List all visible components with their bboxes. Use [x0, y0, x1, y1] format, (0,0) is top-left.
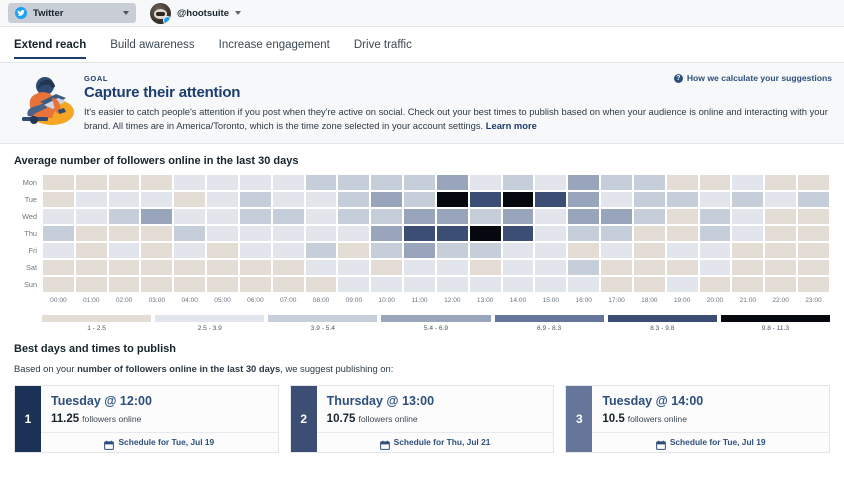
heatmap-cell[interactable] [108, 276, 141, 293]
legend-item: 9.8 - 11.3 [721, 315, 830, 332]
heatmap-cell[interactable] [699, 259, 732, 276]
heatmap-cell[interactable] [633, 208, 666, 225]
heatmap-day-label: Fri [14, 242, 42, 259]
heatmap-cell[interactable] [567, 242, 600, 259]
heatmap-hour-label: 14:00 [502, 297, 535, 304]
heatmap-cell[interactable] [140, 191, 173, 208]
heatmap-cell[interactable] [206, 191, 239, 208]
heatmap-cell[interactable] [206, 242, 239, 259]
heatmap-cell[interactable] [567, 208, 600, 225]
tab-extend-reach[interactable]: Extend reach [14, 30, 86, 59]
heatmap-cell[interactable] [764, 191, 797, 208]
heatmap-cell[interactable] [699, 191, 732, 208]
heatmap-cell[interactable] [140, 225, 173, 242]
heatmap-cell[interactable] [403, 191, 436, 208]
heatmap-cell[interactable] [731, 242, 764, 259]
heatmap-cell[interactable] [502, 259, 535, 276]
hero-description-text: It's easier to catch people's attention … [84, 106, 828, 131]
heatmap-cell[interactable] [633, 259, 666, 276]
suggestion-cards: 1Tuesday @ 12:0011.25followers onlineSch… [14, 385, 830, 453]
heatmap-hour-label: 21:00 [731, 297, 764, 304]
schedule-button[interactable]: Schedule for Thu, Jul 21 [317, 432, 554, 452]
heatmap-hour-label: 18:00 [633, 297, 666, 304]
legend-label: 8.3 - 9.8 [608, 325, 717, 332]
heatmap-cell[interactable] [600, 208, 633, 225]
heatmap-hour-label: 08:00 [305, 297, 338, 304]
heatmap-cell[interactable] [567, 259, 600, 276]
legend-item: 5.4 - 6.9 [381, 315, 490, 332]
heatmap-cell[interactable] [337, 208, 370, 225]
heatmap-cell[interactable] [403, 208, 436, 225]
subtitle-bold: number of followers online in the last 3… [77, 363, 280, 374]
legend-item: 6.9 - 8.3 [495, 315, 604, 332]
heatmap-cell[interactable] [436, 174, 469, 191]
legend-label: 1 - 2.5 [42, 325, 151, 332]
heatmap-title: Average number of followers online in th… [14, 155, 830, 167]
heatmap-cell[interactable] [239, 174, 272, 191]
heatmap-cell[interactable] [502, 225, 535, 242]
card-rank-badge: 3 [566, 386, 592, 452]
heatmap-day-label: Tue [14, 191, 42, 208]
heatmap-row [42, 259, 830, 276]
heatmap-section: Average number of followers online in th… [0, 155, 844, 332]
learn-more-link[interactable]: Learn more [486, 120, 537, 131]
heatmap-cell[interactable] [731, 276, 764, 293]
heatmap-cell[interactable] [337, 225, 370, 242]
best-times-title: Best days and times to publish [14, 343, 830, 355]
heatmap-cell[interactable] [75, 259, 108, 276]
heatmap-cell[interactable] [567, 225, 600, 242]
heatmap-row [42, 276, 830, 293]
card-rank-badge: 2 [291, 386, 317, 452]
heatmap-cell[interactable] [305, 208, 338, 225]
heatmap-cell[interactable] [42, 259, 75, 276]
heatmap-cell[interactable] [75, 225, 108, 242]
heatmap-cell[interactable] [239, 208, 272, 225]
heatmap-cell[interactable] [272, 174, 305, 191]
schedule-button[interactable]: Schedule for Tue, Jul 19 [592, 432, 829, 452]
heatmap-cell[interactable] [699, 225, 732, 242]
hero-description: It's easier to catch people's attention … [84, 105, 830, 132]
heatmap-cell[interactable] [108, 242, 141, 259]
heatmap-cell[interactable] [534, 242, 567, 259]
heatmap-hour-label: 15:00 [534, 297, 567, 304]
heatmap-cell[interactable] [600, 191, 633, 208]
heatmap-cell[interactable] [337, 242, 370, 259]
schedule-label: Schedule for Tue, Jul 19 [670, 437, 766, 447]
heatmap-hour-label: 02:00 [108, 297, 141, 304]
card-time: Tuesday @ 14:00 [602, 394, 819, 408]
heatmap-cell[interactable] [633, 225, 666, 242]
heatmap-cell[interactable] [633, 276, 666, 293]
heatmap-cell[interactable] [797, 174, 830, 191]
network-label: Twitter [33, 8, 117, 19]
heatmap-hour-label: 04:00 [173, 297, 206, 304]
tab-drive-traffic[interactable]: Drive traffic [354, 30, 412, 59]
heatmap-cell[interactable] [370, 242, 403, 259]
heatmap-cell[interactable] [403, 276, 436, 293]
heatmap-cell[interactable] [436, 242, 469, 259]
heatmap-cell[interactable] [731, 174, 764, 191]
heatmap-cell[interactable] [436, 191, 469, 208]
heatmap-cell[interactable] [108, 208, 141, 225]
heatmap-cell[interactable] [173, 225, 206, 242]
best-times-section: Best days and times to publish Based on … [0, 343, 844, 453]
heatmap-cell[interactable] [108, 174, 141, 191]
heatmap-cell[interactable] [272, 191, 305, 208]
heatmap-cell[interactable] [140, 259, 173, 276]
question-mark-icon: ? [674, 74, 683, 83]
profile-selector[interactable]: @hootsuite [150, 3, 241, 24]
calendar-icon [656, 437, 666, 447]
legend-swatch [42, 315, 151, 322]
heatmap-cell[interactable] [469, 208, 502, 225]
heatmap-row [42, 174, 830, 191]
heatmap-cell[interactable] [206, 276, 239, 293]
heatmap-cell[interactable] [699, 208, 732, 225]
heatmap-cell[interactable] [370, 225, 403, 242]
heatmap-cell[interactable] [206, 225, 239, 242]
profile-handle: @hootsuite [177, 8, 229, 19]
subtitle-post: , we suggest publishing on: [280, 363, 393, 374]
heatmap-cell[interactable] [337, 191, 370, 208]
heatmap-cell[interactable] [108, 225, 141, 242]
heatmap-cell[interactable] [666, 242, 699, 259]
avatar [150, 3, 171, 24]
heatmap-cell[interactable] [173, 208, 206, 225]
card-time: Tuesday @ 12:00 [51, 394, 268, 408]
heatmap-cell[interactable] [633, 174, 666, 191]
heatmap-cell[interactable] [502, 276, 535, 293]
chevron-down-icon[interactable] [123, 11, 129, 15]
heatmap-cell[interactable] [42, 191, 75, 208]
heatmap-cell[interactable] [206, 174, 239, 191]
heatmap-day-label: Thu [14, 225, 42, 242]
heatmap-cell[interactable] [469, 242, 502, 259]
subtitle-pre: Based on your [14, 363, 77, 374]
person-with-laptop-illustration [14, 72, 82, 128]
heatmap-cell[interactable] [239, 191, 272, 208]
heatmap-cell[interactable] [731, 191, 764, 208]
heatmap-hour-label: 22:00 [764, 297, 797, 304]
suggestion-card: 2Thursday @ 13:0010.75followers onlineSc… [290, 385, 555, 453]
heatmap-cell[interactable] [534, 174, 567, 191]
heatmap-cell[interactable] [633, 242, 666, 259]
heatmap-cell[interactable] [305, 174, 338, 191]
heatmap-cell[interactable] [305, 259, 338, 276]
schedule-label: Schedule for Thu, Jul 21 [394, 437, 491, 447]
legend-swatch [155, 315, 264, 322]
heatmap-cell[interactable] [75, 174, 108, 191]
heatmap-cell[interactable] [502, 174, 535, 191]
heatmap-cell[interactable] [534, 225, 567, 242]
heatmap-cell[interactable] [699, 174, 732, 191]
how-we-calculate-label: How we calculate your suggestions [687, 73, 832, 83]
heatmap-cell[interactable] [305, 191, 338, 208]
heatmap-cell[interactable] [666, 276, 699, 293]
legend-item: 1 - 2.5 [42, 315, 151, 332]
tab-build-awareness[interactable]: Build awareness [110, 30, 194, 59]
heatmap-hour-label: 01:00 [75, 297, 108, 304]
legend-item: 8.3 - 9.8 [608, 315, 717, 332]
legend-label: 5.4 - 6.9 [381, 325, 490, 332]
heatmap-hour-label: 17:00 [600, 297, 633, 304]
legend-label: 3.9 - 5.4 [268, 325, 377, 332]
heatmap-cell[interactable] [75, 276, 108, 293]
heatmap-day-labels: MonTueWedThuFriSatSun [14, 174, 42, 293]
heatmap-cell[interactable] [272, 242, 305, 259]
heatmap-cell[interactable] [403, 225, 436, 242]
heatmap-cell[interactable] [370, 208, 403, 225]
heatmap-hour-label: 16:00 [567, 297, 600, 304]
heatmap-cell[interactable] [75, 242, 108, 259]
heatmap-cell[interactable] [797, 208, 830, 225]
calendar-icon [104, 437, 114, 447]
heatmap-cell[interactable] [666, 259, 699, 276]
heatmap-day-label: Sun [14, 276, 42, 293]
heatmap-cell[interactable] [731, 259, 764, 276]
best-times-subtitle: Based on your number of followers online… [14, 362, 814, 376]
heatmap-cell[interactable] [370, 276, 403, 293]
verified-badge-icon [163, 16, 171, 24]
heatmap-hour-label: 20:00 [699, 297, 732, 304]
heatmap-cell[interactable] [173, 191, 206, 208]
heatmap-cell[interactable] [173, 276, 206, 293]
heatmap-cell[interactable] [173, 259, 206, 276]
heatmap-cell[interactable] [469, 276, 502, 293]
how-we-calculate-link[interactable]: ? How we calculate your suggestions [674, 73, 832, 83]
heatmap-cell[interactable] [206, 208, 239, 225]
heatmap-day-label: Sat [14, 259, 42, 276]
heatmap-cell[interactable] [600, 174, 633, 191]
legend-label: 9.8 - 11.3 [721, 325, 830, 332]
heatmap-cell[interactable] [42, 242, 75, 259]
card-followers-count: 10.75 [327, 413, 356, 425]
heatmap-row [42, 225, 830, 242]
heatmap-cell[interactable] [666, 174, 699, 191]
heatmap-cell[interactable] [764, 174, 797, 191]
card-followers-count: 11.25 [51, 413, 79, 425]
card-followers-label: followers online [82, 414, 141, 424]
heatmap-cell[interactable] [502, 242, 535, 259]
card-followers-label: followers online [358, 414, 417, 424]
heatmap-cell[interactable] [469, 225, 502, 242]
goal-hero: ? How we calculate your suggestions GOAL… [0, 63, 844, 144]
heatmap-cell[interactable] [699, 276, 732, 293]
heatmap-hour-label: 05:00 [206, 297, 239, 304]
heatmap-cell[interactable] [403, 242, 436, 259]
card-time: Thursday @ 13:00 [327, 394, 544, 408]
heatmap-hour-label: 11:00 [403, 297, 436, 304]
heatmap-cell[interactable] [140, 242, 173, 259]
heatmap-cell[interactable] [567, 276, 600, 293]
heatmap-cell[interactable] [731, 208, 764, 225]
heatmap-hour-label: 03:00 [140, 297, 173, 304]
heatmap-day-label: Wed [14, 208, 42, 225]
page-title: Capture their attention [84, 84, 830, 101]
heatmap-cell[interactable] [764, 276, 797, 293]
heatmap-cell[interactable] [469, 174, 502, 191]
legend-swatch [268, 315, 377, 322]
legend-swatch [608, 315, 717, 322]
tab-increase-engagement[interactable]: Increase engagement [219, 30, 330, 59]
goal-tabs: Extend reach Build awareness Increase en… [0, 27, 844, 63]
heatmap-cell[interactable] [436, 276, 469, 293]
heatmap-cell[interactable] [140, 208, 173, 225]
schedule-button[interactable]: Schedule for Tue, Jul 19 [41, 432, 278, 452]
heatmap-cell[interactable] [403, 259, 436, 276]
heatmap-cell[interactable] [108, 259, 141, 276]
heatmap-cell[interactable] [764, 225, 797, 242]
heatmap-cell[interactable] [633, 191, 666, 208]
heatmap-cell[interactable] [108, 191, 141, 208]
heatmap-hour-label: 19:00 [666, 297, 699, 304]
heatmap-cell[interactable] [239, 276, 272, 293]
twitter-icon [15, 7, 27, 19]
heatmap-legend: 1 - 2.52.5 - 3.93.9 - 5.45.4 - 6.96.9 - … [14, 315, 830, 332]
heatmap-cell[interactable] [567, 191, 600, 208]
heatmap-cell[interactable] [42, 208, 75, 225]
heatmap-grid [42, 174, 830, 293]
heatmap-cell[interactable] [272, 208, 305, 225]
heatmap-cell[interactable] [764, 208, 797, 225]
heatmap-cell[interactable] [699, 242, 732, 259]
heatmap-cell[interactable] [173, 242, 206, 259]
heatmap-cell[interactable] [666, 208, 699, 225]
heatmap-cell[interactable] [436, 259, 469, 276]
heatmap-cell[interactable] [534, 208, 567, 225]
heatmap-hour-label: 06:00 [239, 297, 272, 304]
heatmap-cell[interactable] [239, 242, 272, 259]
heatmap-cell[interactable] [600, 259, 633, 276]
heatmap-cell[interactable] [272, 276, 305, 293]
heatmap-cell[interactable] [600, 242, 633, 259]
heatmap-cell[interactable] [797, 242, 830, 259]
heatmap-cell[interactable] [370, 174, 403, 191]
heatmap-hour-label: 23:00 [797, 297, 830, 304]
heatmap-cell[interactable] [469, 191, 502, 208]
heatmap-cell[interactable] [502, 191, 535, 208]
heatmap-cell[interactable] [666, 191, 699, 208]
heatmap-row [42, 191, 830, 208]
heatmap-hour-label: 10:00 [370, 297, 403, 304]
heatmap-cell[interactable] [534, 191, 567, 208]
card-rank-badge: 1 [15, 386, 41, 452]
heatmap-cell[interactable] [600, 276, 633, 293]
heatmap-cell[interactable] [600, 225, 633, 242]
heatmap-cell[interactable] [370, 191, 403, 208]
heatmap-cell[interactable] [502, 208, 535, 225]
calendar-icon [380, 437, 390, 447]
legend-swatch [495, 315, 604, 322]
heatmap-cell[interactable] [567, 174, 600, 191]
heatmap-hour-label: 07:00 [272, 297, 305, 304]
heatmap-hour-label: 13:00 [469, 297, 502, 304]
heatmap-cell[interactable] [764, 259, 797, 276]
heatmap-cell[interactable] [42, 276, 75, 293]
heatmap-cell[interactable] [337, 276, 370, 293]
heatmap-cell[interactable] [797, 259, 830, 276]
heatmap-hour-labels: 00:0001:0002:0003:0004:0005:0006:0007:00… [14, 297, 830, 304]
legend-swatch [721, 315, 830, 322]
card-followers-count: 10.5 [602, 413, 624, 425]
suggestion-card: 3Tuesday @ 14:0010.5followers onlineSche… [565, 385, 830, 453]
heatmap-row [42, 242, 830, 259]
heatmap-hour-label: 00:00 [42, 297, 75, 304]
legend-swatch [381, 315, 490, 322]
heatmap-cell[interactable] [797, 225, 830, 242]
legend-item: 3.9 - 5.4 [268, 315, 377, 332]
heatmap-cell[interactable] [42, 225, 75, 242]
heatmap-cell[interactable] [140, 174, 173, 191]
heatmap-cell[interactable] [75, 191, 108, 208]
card-followers-label: followers online [628, 414, 687, 424]
schedule-label: Schedule for Tue, Jul 19 [118, 437, 214, 447]
heatmap-day-label: Mon [14, 174, 42, 191]
chevron-down-icon[interactable] [235, 11, 241, 15]
suggestion-card: 1Tuesday @ 12:0011.25followers onlineSch… [14, 385, 279, 453]
heatmap-cell[interactable] [42, 174, 75, 191]
top-bar: Twitter @hootsuite [0, 0, 844, 27]
heatmap-cell[interactable] [731, 225, 764, 242]
heatmap-cell[interactable] [305, 242, 338, 259]
heatmap-cell[interactable] [239, 259, 272, 276]
heatmap-cell[interactable] [534, 276, 567, 293]
heatmap-cell[interactable] [534, 259, 567, 276]
network-selector[interactable]: Twitter [8, 3, 136, 23]
legend-item: 2.5 - 3.9 [155, 315, 264, 332]
heatmap-cell[interactable] [272, 259, 305, 276]
heatmap-hour-label: 12:00 [436, 297, 469, 304]
heatmap-cell[interactable] [337, 174, 370, 191]
heatmap: MonTueWedThuFriSatSun [14, 174, 830, 293]
heatmap-cell[interactable] [436, 208, 469, 225]
heatmap-cell[interactable] [436, 225, 469, 242]
heatmap-cell[interactable] [666, 225, 699, 242]
heatmap-cell[interactable] [239, 225, 272, 242]
heatmap-cell[interactable] [797, 191, 830, 208]
legend-label: 2.5 - 3.9 [155, 325, 264, 332]
heatmap-cell[interactable] [797, 276, 830, 293]
heatmap-cell[interactable] [305, 225, 338, 242]
heatmap-cell[interactable] [173, 174, 206, 191]
heatmap-cell[interactable] [469, 259, 502, 276]
heatmap-cell[interactable] [337, 259, 370, 276]
heatmap-cell[interactable] [206, 259, 239, 276]
heatmap-cell[interactable] [75, 208, 108, 225]
heatmap-cell[interactable] [764, 242, 797, 259]
legend-label: 6.9 - 8.3 [495, 325, 604, 332]
heatmap-cell[interactable] [403, 174, 436, 191]
heatmap-cell[interactable] [140, 276, 173, 293]
heatmap-row [42, 208, 830, 225]
heatmap-cell[interactable] [305, 276, 338, 293]
heatmap-hour-label: 09:00 [337, 297, 370, 304]
heatmap-cell[interactable] [272, 225, 305, 242]
heatmap-cell[interactable] [370, 259, 403, 276]
